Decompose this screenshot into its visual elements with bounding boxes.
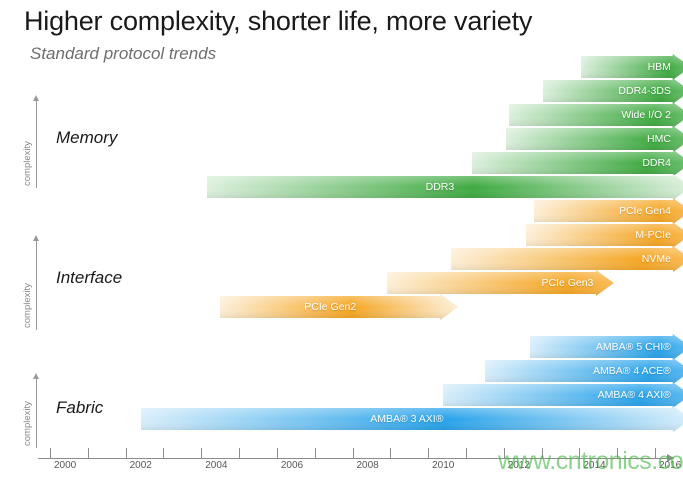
complexity-axis-label: complexity — [22, 141, 33, 186]
slide-canvas: Higher complexity, shorter life, more va… — [0, 0, 683, 480]
protocol-arrow[interactable]: HMC — [506, 128, 683, 150]
timeline-tick — [428, 448, 429, 459]
timeline-tick — [88, 448, 89, 459]
protocol-arrow[interactable]: DDR4-3DS — [543, 80, 683, 102]
timeline-tick — [390, 448, 391, 459]
complexity-axis-fabric — [36, 378, 37, 448]
timeline-tick — [353, 448, 354, 459]
protocol-arrow[interactable]: M-PCIe — [526, 224, 683, 246]
timeline-year-label: 2010 — [432, 460, 454, 471]
section-label-interface: Interface — [56, 268, 122, 288]
protocol-arrow[interactable]: PCIe Gen4 — [534, 200, 683, 222]
protocol-arrow[interactable]: HBM — [581, 56, 683, 78]
timeline-tick — [315, 448, 316, 459]
timeline-tick — [239, 448, 240, 459]
protocol-arrow[interactable]: NVMe — [451, 248, 683, 270]
page-title: Higher complexity, shorter life, more va… — [24, 6, 532, 37]
section-label-fabric: Fabric — [56, 398, 103, 418]
timeline-year-label: 2006 — [281, 460, 303, 471]
protocol-arrow[interactable]: AMBA® 5 CHI® — [530, 336, 683, 358]
timeline-tick — [277, 448, 278, 459]
timeline-year-label: 2002 — [130, 460, 152, 471]
protocol-arrow[interactable]: PCIe Gen3 — [387, 272, 614, 294]
protocol-arrow[interactable]: AMBA® 4 AXI® — [443, 384, 683, 406]
page-subtitle: Standard protocol trends — [30, 44, 216, 64]
timeline-year-label: 2004 — [205, 460, 227, 471]
complexity-axis-interface — [36, 240, 37, 330]
protocol-arrow[interactable]: DDR4 — [472, 152, 683, 174]
protocol-arrow[interactable]: PCIe Gen2 — [220, 296, 458, 318]
timeline-tick — [50, 448, 51, 459]
protocol-arrow[interactable]: Wide I/O 2 — [509, 104, 683, 126]
protocol-arrow[interactable]: DDR3 — [207, 176, 683, 198]
timeline-tick — [163, 448, 164, 459]
timeline-tick — [201, 448, 202, 459]
protocol-arrow[interactable]: AMBA® 3 AXI® — [141, 408, 683, 430]
watermark: www.cntronics.com — [498, 447, 683, 476]
protocol-arrow[interactable]: AMBA® 4 ACE® — [485, 360, 683, 382]
timeline-tick — [466, 448, 467, 459]
complexity-axis-memory — [36, 100, 37, 188]
timeline-tick — [126, 448, 127, 459]
complexity-axis-label: complexity — [22, 283, 33, 328]
timeline-year-label: 2000 — [54, 460, 76, 471]
timeline-year-label: 2008 — [357, 460, 379, 471]
section-label-memory: Memory — [56, 128, 117, 148]
